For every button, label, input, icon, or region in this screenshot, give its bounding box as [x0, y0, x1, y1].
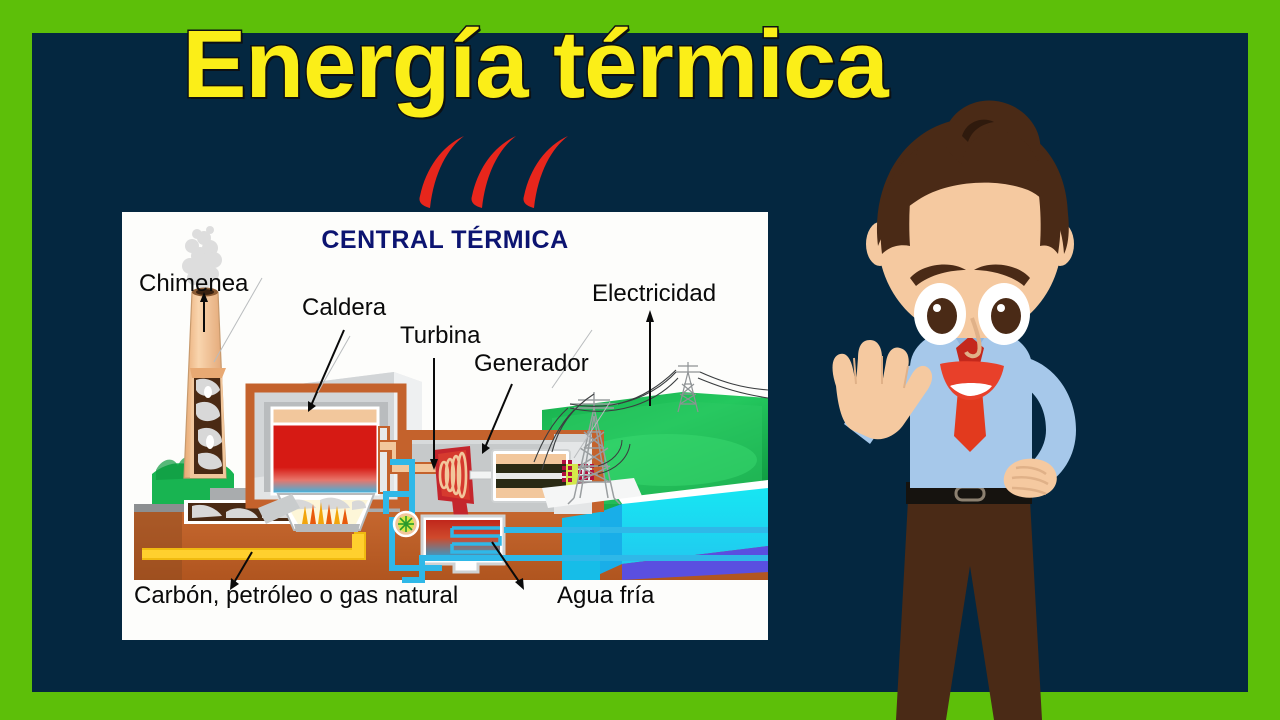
- diagram-label-carbon: Carbón, petróleo o gas natural: [134, 584, 458, 608]
- heat-wave-marks: [418, 128, 598, 213]
- diagram-label-chimenea: Chimenea: [139, 272, 248, 296]
- cartoon-presenter-character: [758, 96, 1178, 720]
- slide-stage: Energía térmica CENTRAL TÉRMICA: [0, 0, 1280, 720]
- frame-left-strip: [0, 0, 32, 720]
- frame-top-left-block: [0, 0, 195, 33]
- diagram-label-electricidad: Electricidad: [592, 282, 716, 306]
- frame-right-strip: [1248, 0, 1280, 720]
- diagram-label-generador: Generador: [474, 352, 589, 376]
- diagram-panel: CENTRAL TÉRMICA: [122, 212, 768, 640]
- frame-top-right-block: [1060, 0, 1280, 33]
- diagram-label-turbina: Turbina: [400, 324, 480, 348]
- diagram-label-caldera: Caldera: [302, 296, 386, 320]
- diagram-label-agua-fria: Agua fría: [557, 584, 654, 608]
